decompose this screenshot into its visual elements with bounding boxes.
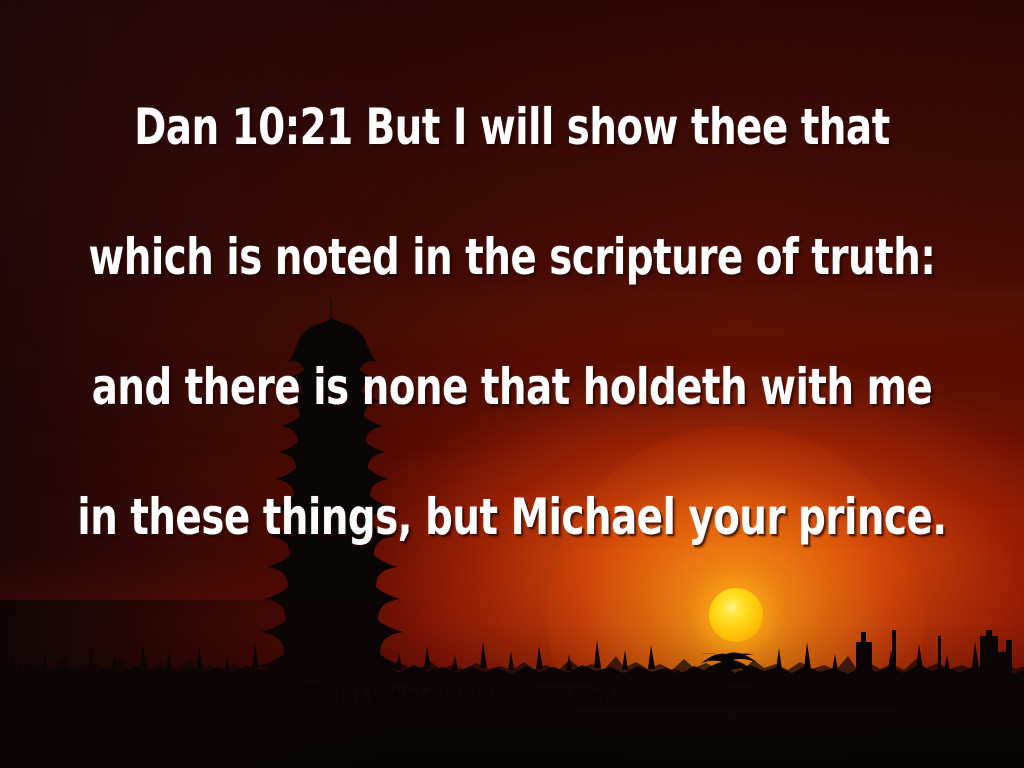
verse-line-4: in these things, but Michael your prince… (72, 485, 953, 550)
verse-line-1: Dan 10:21 But I will show thee that (72, 95, 953, 160)
verse-line-2: which is noted in the scripture of truth… (72, 225, 953, 290)
copyright-watermark: (c) www.eBiblePhotos.com (336, 684, 614, 707)
scripture-photo-canvas: Dan 10:21 But I will show thee that whic… (0, 0, 1024, 768)
scripture-verse-caption: Dan 10:21 But I will show thee that whic… (72, 30, 953, 615)
verse-line-3: and there is none that holdeth with me (72, 355, 953, 420)
